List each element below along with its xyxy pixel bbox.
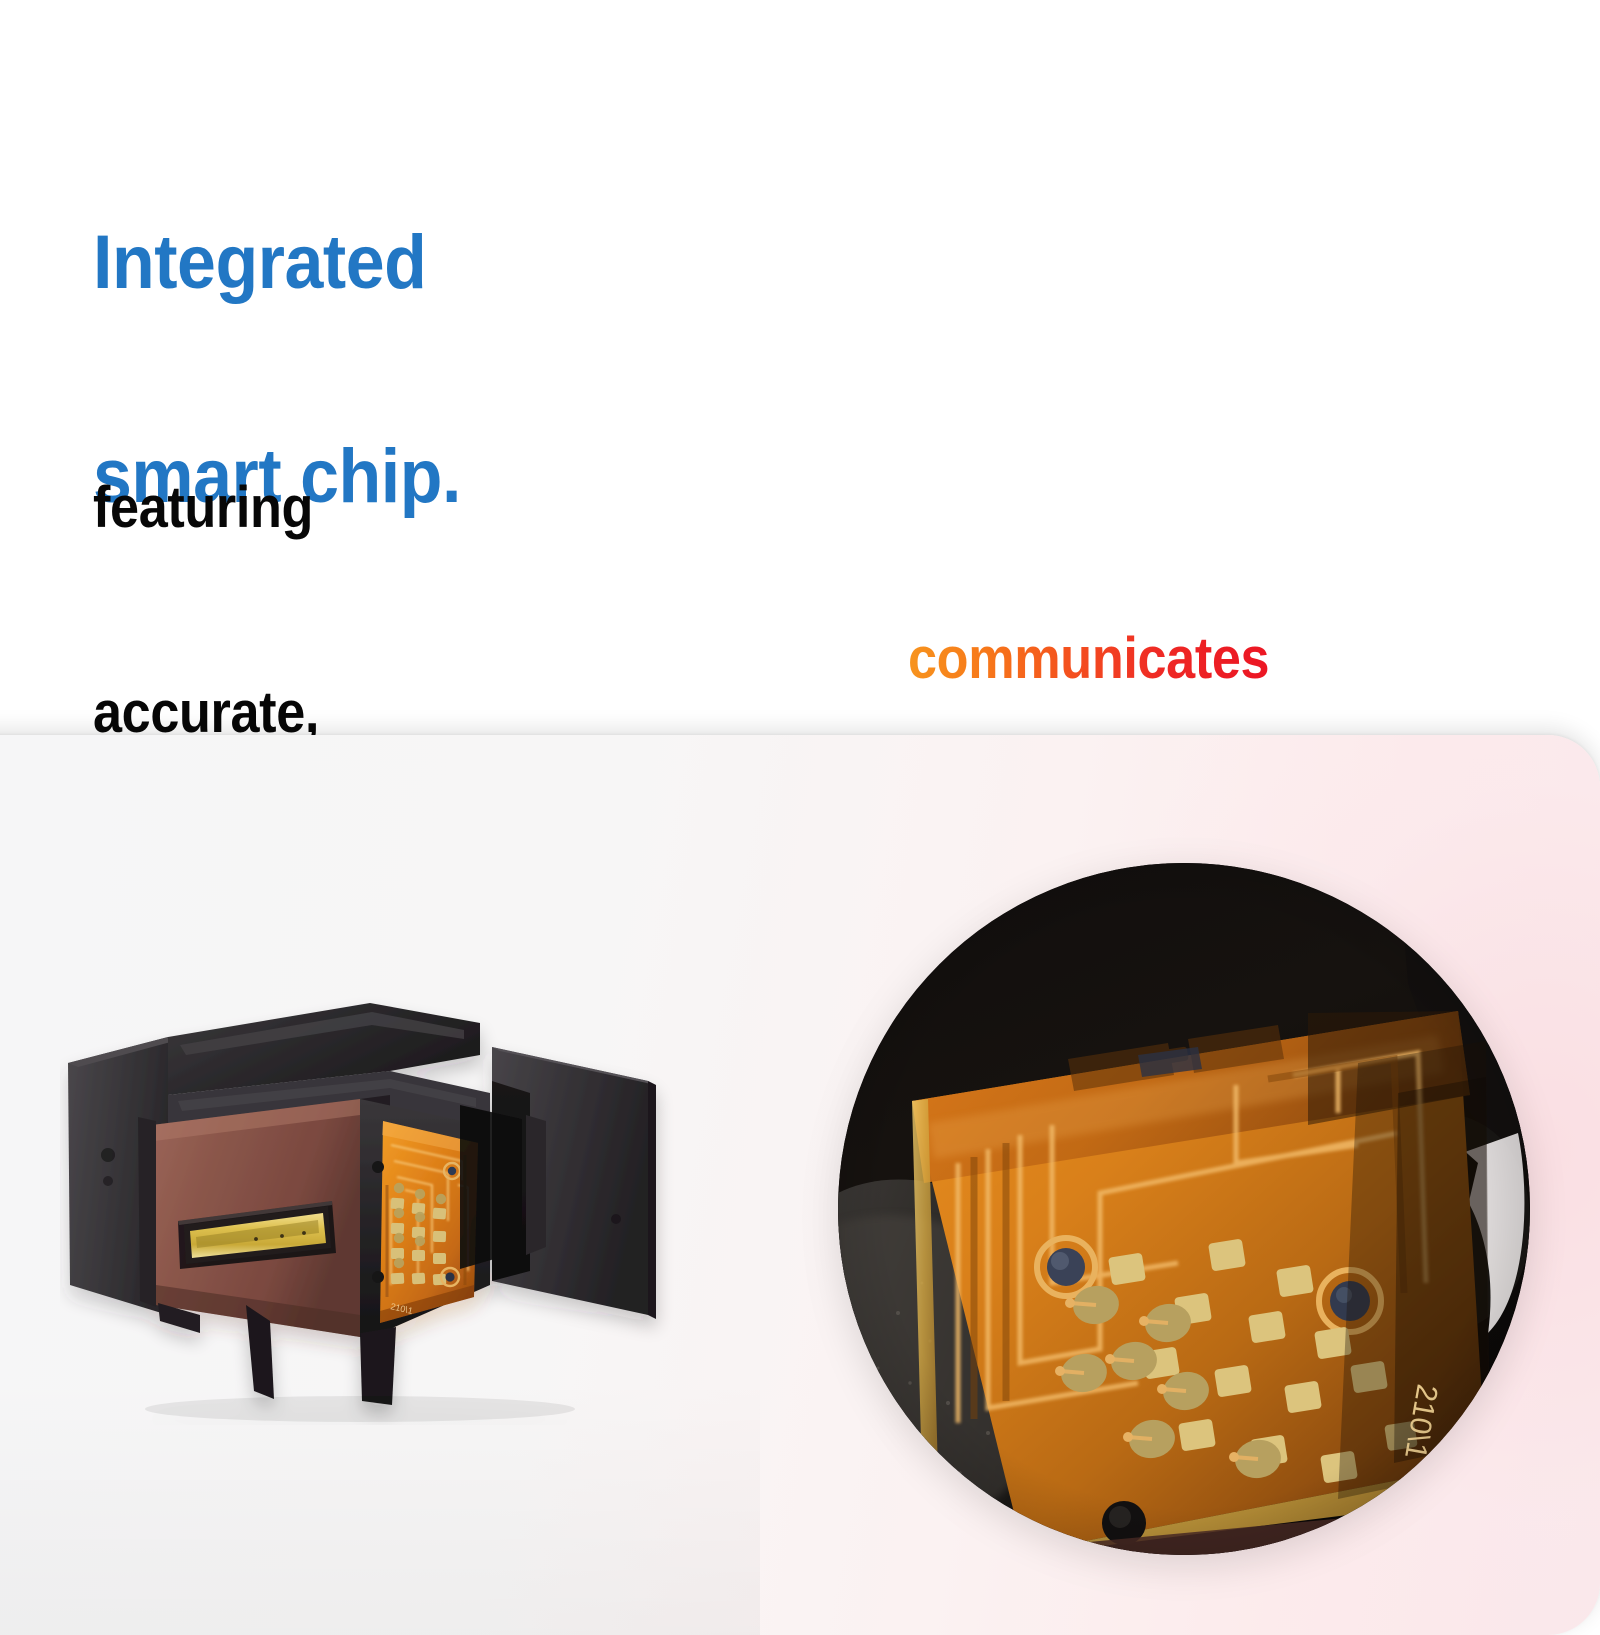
- smart-chip-closeup-inset: 210\1: [838, 863, 1530, 1555]
- product-photo-panel: 210\1: [0, 735, 1600, 1635]
- copy-area: Integrated smart chip. featuring accurat…: [0, 0, 1600, 735]
- ink-cartridge-illustration: 210\1: [60, 985, 760, 1425]
- poster-canvas: Integrated smart chip. featuring accurat…: [0, 0, 1600, 1600]
- headline-line-1: Integrated: [93, 227, 461, 298]
- ink-cartridge-photo: 210\1: [60, 985, 760, 1425]
- feature-left-line-1: featuring: [93, 474, 607, 542]
- smart-chip-closeup-illustration: 210\1: [838, 863, 1530, 1555]
- feature-right-line-1: communicates: [908, 625, 1325, 693]
